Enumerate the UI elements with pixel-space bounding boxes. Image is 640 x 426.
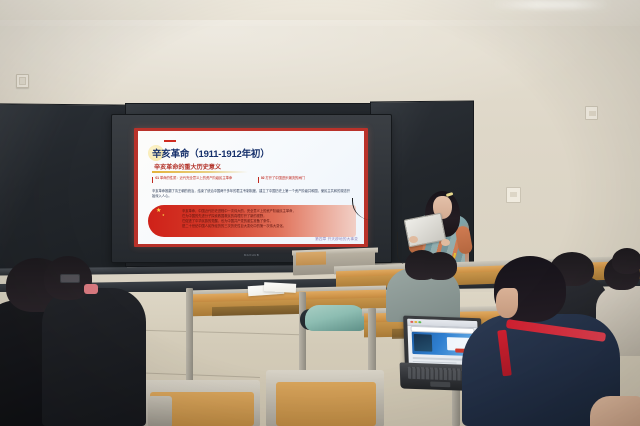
desk-leg (186, 288, 193, 392)
title-decoration-dash (164, 140, 176, 142)
blackboard-panel-left (0, 103, 127, 273)
chair-armrest (148, 396, 172, 426)
bullet-item: 01 革命的性质：近代完全意义上的资产阶级民主革命 (152, 176, 249, 183)
chair-seat-wood (276, 382, 376, 426)
browser-minimize-dot[interactable] (414, 321, 417, 324)
slide-subtitle: 辛亥革命的重大历史意义 (154, 162, 221, 171)
bullet-text: 打开了中国进步潮流的闸门 (265, 176, 305, 180)
foreground-hand (590, 396, 640, 426)
handout-paper[interactable] (264, 282, 296, 293)
bullet-number: 01 (155, 176, 159, 180)
star-small-icon: ★ (162, 213, 165, 217)
power-outlet-upper[interactable] (585, 106, 598, 120)
hero-thumbnail (414, 334, 433, 352)
presenter-hand-left (409, 236, 418, 243)
display-screen[interactable]: 辛亥革命（1911-1912年初） 辛亥革命的重大历史意义 01 革命的性质：近… (134, 128, 368, 247)
student-ear-neck (496, 288, 518, 318)
bullet-text: 革命的性质：近代完全意义上的资产阶级民主革命 (160, 176, 232, 180)
glasses-icon (60, 274, 80, 283)
browser-maximize-dot[interactable] (418, 321, 421, 324)
light-switch[interactable] (16, 74, 29, 88)
wall-display[interactable]: 辛亥革命（1911-1912年初） 辛亥革命的重大历史意义 01 革命的性质：近… (111, 114, 392, 263)
browser-close-dot[interactable] (410, 320, 413, 323)
bullet-number: 02 (261, 176, 265, 180)
student-torso (42, 288, 146, 426)
classroom-photo: 辛亥革命（1911-1912年初） 辛亥革命的重大历史意义 01 革命的性质：近… (0, 0, 640, 426)
bullet-bar (258, 177, 259, 183)
student-head (424, 252, 457, 280)
content-line (413, 357, 465, 360)
slide-highlight-block: ★ ★ 辛亥革命，中国近代历史进程中一次伟大的、完全意义上的资产阶级民主革命， … (148, 205, 356, 237)
highlight-line: 是二十世纪中国人民所经历的三次历史性巨大变化中的第一次伟大变化。 (182, 224, 350, 229)
student-head (612, 248, 640, 274)
highlight-lines: 辛亥革命，中国近代历史进程中一次伟大的、完全意义上的资产阶级民主革命， 它为中国… (182, 209, 350, 230)
podium-wood-panel (296, 251, 326, 265)
laptop-trackpad[interactable] (430, 382, 450, 388)
presentation-slide: 辛亥革命（1911-1912年初） 辛亥革命的重大历史意义 01 革命的性质：近… (138, 131, 364, 244)
presenter-hand-right (441, 239, 450, 246)
power-outlet[interactable] (506, 187, 521, 203)
student-scarf (84, 284, 98, 294)
display-brand-label: MAXHUB (244, 253, 259, 257)
star-icon: ★ (156, 208, 161, 214)
slide-title: 辛亥革命（1911-1912年初） (152, 146, 270, 160)
bullet-bar (152, 177, 153, 183)
bullet-item: 02 打开了中国进步潮流的闸门 (258, 176, 355, 183)
subtitle-underline (152, 171, 248, 173)
slide-bullets: 01 革命的性质：近代完全意义上的资产阶级民主革命 02 打开了中国进步潮流的闸… (152, 176, 354, 183)
slide-watermark: 第四章 开天辟地的大事变 (315, 237, 358, 242)
ceiling-light-fixture (490, 0, 610, 9)
green-backpack (305, 305, 367, 331)
slide-paragraph: 辛亥革命推翻了清王朝的统治，结束了统治中国两千多年的君主专制制度，建立了中国历史… (152, 189, 352, 199)
